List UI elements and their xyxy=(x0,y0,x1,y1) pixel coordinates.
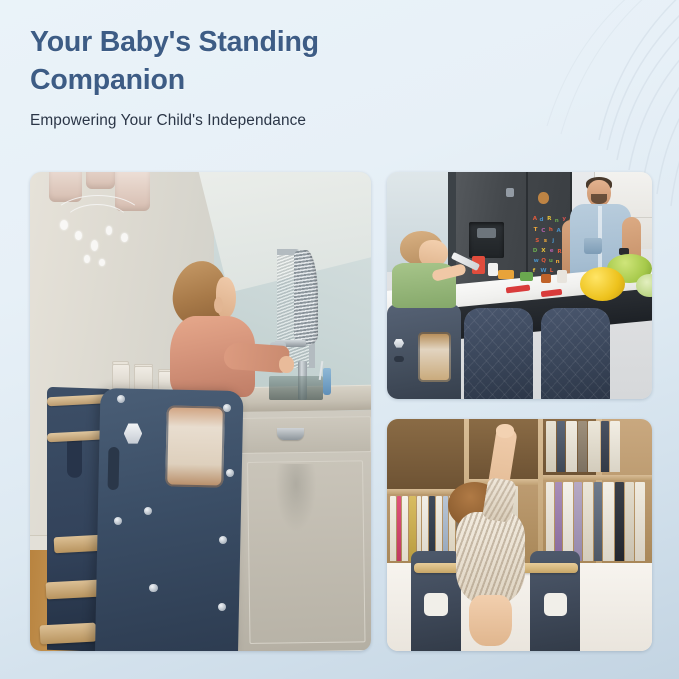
photo-bookshelf-reaching[interactable] xyxy=(387,419,652,651)
crystal-drop xyxy=(60,220,68,230)
crystal-drop xyxy=(99,259,104,266)
toy-food xyxy=(498,270,514,279)
shelf-divider xyxy=(538,419,543,563)
fridge-magnet xyxy=(538,192,549,203)
scene-bookshelf xyxy=(387,419,652,651)
scene-kitchen-island: A d R n y t T C h A v w S s j D X xyxy=(387,172,652,399)
tower-hand-slot xyxy=(108,447,120,490)
dining-chair xyxy=(464,308,533,399)
photo-gallery: A d R n y t T C h A v w S s j D X xyxy=(30,172,652,651)
water-dispenser xyxy=(469,222,503,258)
coffee-cup xyxy=(584,238,601,254)
child-legs xyxy=(469,595,511,646)
child-hand xyxy=(279,356,294,372)
soap-bottle xyxy=(323,368,331,395)
book-row-top xyxy=(546,421,647,472)
tower-hand-slot xyxy=(424,593,447,616)
photo-kitchen-island-with-parent[interactable]: A d R n y t T C h A v w S s j D X xyxy=(387,172,652,399)
kitchen-canister xyxy=(134,366,153,391)
sink-items xyxy=(269,376,324,400)
promo-poster: Your Baby's Standing Companion Empowerin… xyxy=(0,0,679,679)
page-title: Your Baby's Standing Companion xyxy=(30,24,460,100)
toy-food xyxy=(541,274,552,283)
tower-window-cutout xyxy=(418,332,451,382)
kitchen-canister xyxy=(112,364,130,391)
book-row xyxy=(546,482,649,561)
photo-main-kitchen-sink[interactable] xyxy=(30,172,371,651)
header: Your Baby's Standing Companion Empowerin… xyxy=(30,24,460,130)
crystal-drop xyxy=(91,240,99,251)
learning-tower xyxy=(387,304,461,399)
drawer-pull-handle xyxy=(277,428,304,440)
headline-line-1: Your Baby's Standing xyxy=(30,26,319,58)
tower-hand-slot xyxy=(544,593,567,616)
tower-screw xyxy=(218,603,226,611)
window-frame xyxy=(448,172,456,276)
tower-step xyxy=(53,534,102,553)
crystal-drop xyxy=(84,255,89,263)
fridge-magnet xyxy=(506,188,514,197)
scene-kitchen-sink xyxy=(30,172,371,651)
faucet-coil xyxy=(294,250,318,346)
child-hand xyxy=(496,424,515,438)
adult-beard xyxy=(591,194,607,204)
toy-food xyxy=(520,272,533,281)
chandelier xyxy=(47,172,156,273)
tower-adjust-knob xyxy=(394,339,404,348)
toy-food xyxy=(488,263,499,277)
tower-screw xyxy=(117,395,125,403)
dining-chair xyxy=(541,308,610,399)
tower-window-cutout xyxy=(166,405,226,488)
headline-line-2: Companion xyxy=(30,64,185,96)
tower-step xyxy=(46,580,101,600)
cabinet-drawer xyxy=(238,416,371,454)
toy-food xyxy=(557,270,568,284)
page-subtitle: Empowering Your Child's Independance xyxy=(30,112,460,130)
shelf-cubby xyxy=(387,419,464,489)
tower-screw xyxy=(149,584,157,592)
tower-step xyxy=(40,623,96,645)
crystal-drop xyxy=(121,233,128,242)
child-ear xyxy=(214,297,223,313)
crystal-drop xyxy=(75,231,82,240)
shelf-board xyxy=(543,475,652,481)
child-striped-onesie xyxy=(456,512,525,605)
lamp-shade xyxy=(86,172,114,189)
cabinet-shadow xyxy=(276,464,317,531)
tower-hand-slot xyxy=(394,356,404,362)
tower-screw xyxy=(114,517,122,525)
